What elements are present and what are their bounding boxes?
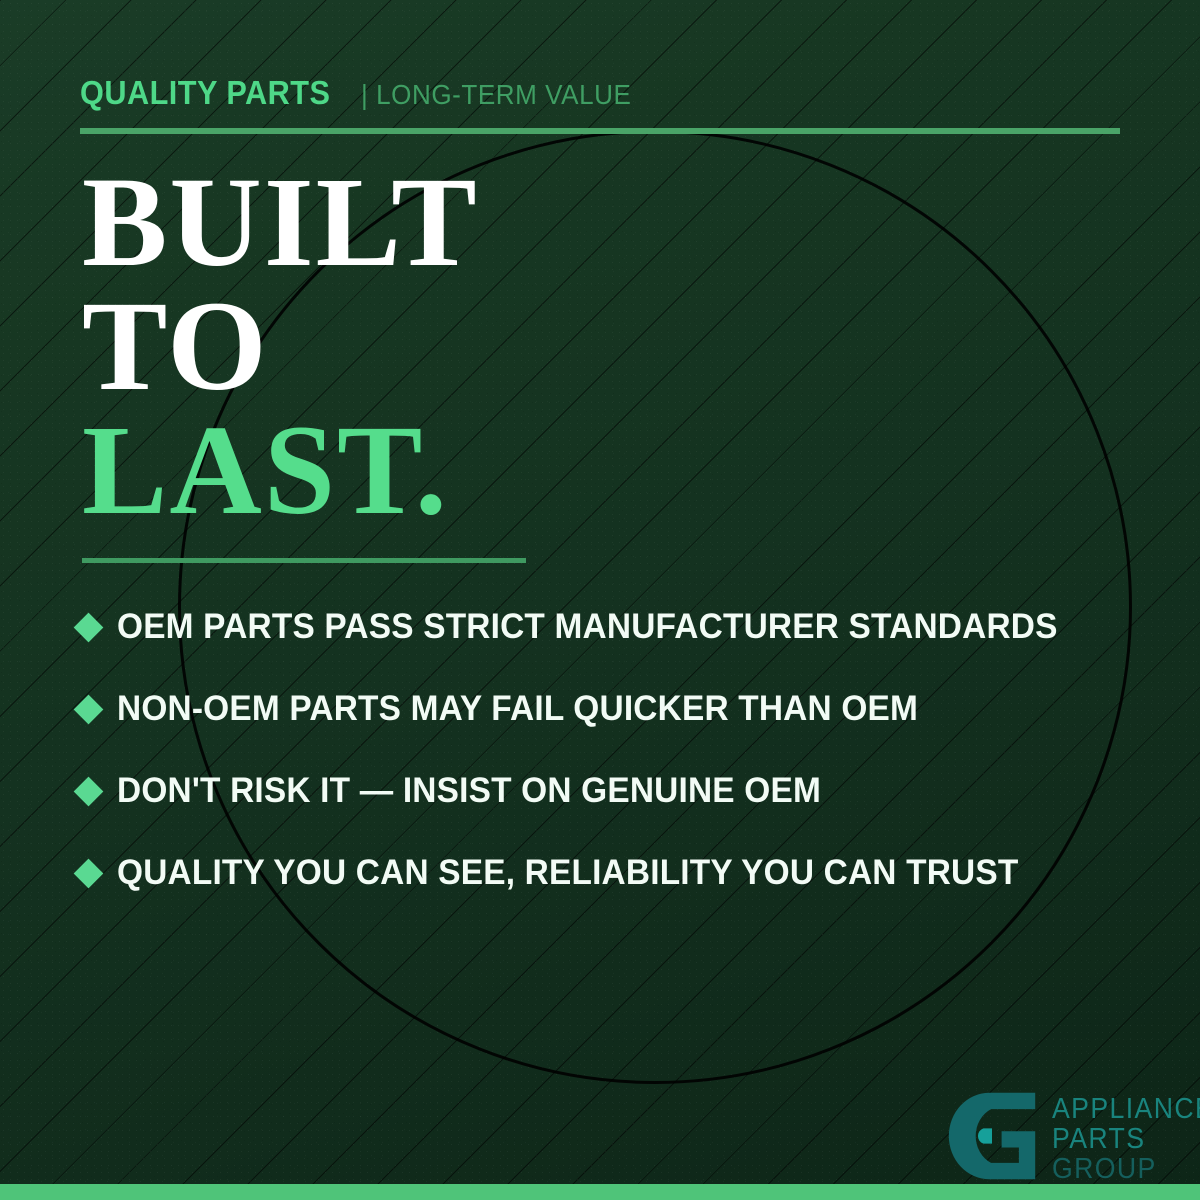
headline-line-2: TO: [82, 284, 479, 408]
brand-logo: APPLIANCE PARTS GROUP: [944, 1088, 1200, 1184]
eyebrow-sub-label: | LONG-TERM VALUE: [361, 79, 631, 111]
headline-line-1: BUILT: [82, 160, 479, 284]
brand-wordmark: APPLIANCE PARTS GROUP: [1052, 1088, 1200, 1184]
bottom-accent-bar: [0, 1184, 1200, 1200]
brand-line-1: APPLIANCE: [1052, 1094, 1200, 1124]
page-title: BUILT TO LAST.: [82, 160, 479, 532]
benefits-list: OEM PARTS PASS STRICT MANUFACTURER STAND…: [78, 586, 1168, 914]
list-item-label: QUALITY YOU CAN SEE, RELIABILITY YOU CAN…: [117, 853, 1018, 893]
g-monogram-icon: [944, 1088, 1040, 1184]
list-item: OEM PARTS PASS STRICT MANUFACTURER STAND…: [78, 586, 1168, 668]
list-item-label: DON'T RISK IT — INSIST ON GENUINE OEM: [117, 771, 821, 811]
list-item: DON'T RISK IT — INSIST ON GENUINE OEM: [78, 750, 1168, 832]
headline-divider-rule: [82, 558, 526, 563]
diamond-bullet-icon: [74, 858, 104, 888]
list-item-label: OEM PARTS PASS STRICT MANUFACTURER STAND…: [117, 607, 1058, 647]
list-item: NON-OEM PARTS MAY FAIL QUICKER THAN OEM: [78, 668, 1168, 750]
eyebrow-main-label: QUALITY PARTS: [80, 74, 330, 112]
headline-line-3: LAST.: [82, 408, 479, 532]
brand-line-3: GROUP: [1052, 1154, 1200, 1184]
list-item-label: NON-OEM PARTS MAY FAIL QUICKER THAN OEM: [117, 689, 918, 729]
eyebrow: QUALITY PARTS | LONG-TERM VALUE: [80, 74, 652, 112]
brand-line-2: PARTS: [1052, 1124, 1200, 1154]
diamond-bullet-icon: [74, 776, 104, 806]
poster-canvas: QUALITY PARTS | LONG-TERM VALUE BUILT TO…: [0, 0, 1200, 1200]
list-item: QUALITY YOU CAN SEE, RELIABILITY YOU CAN…: [78, 832, 1168, 914]
diamond-bullet-icon: [74, 612, 104, 642]
diamond-bullet-icon: [74, 694, 104, 724]
header-divider-rule: [80, 128, 1120, 134]
